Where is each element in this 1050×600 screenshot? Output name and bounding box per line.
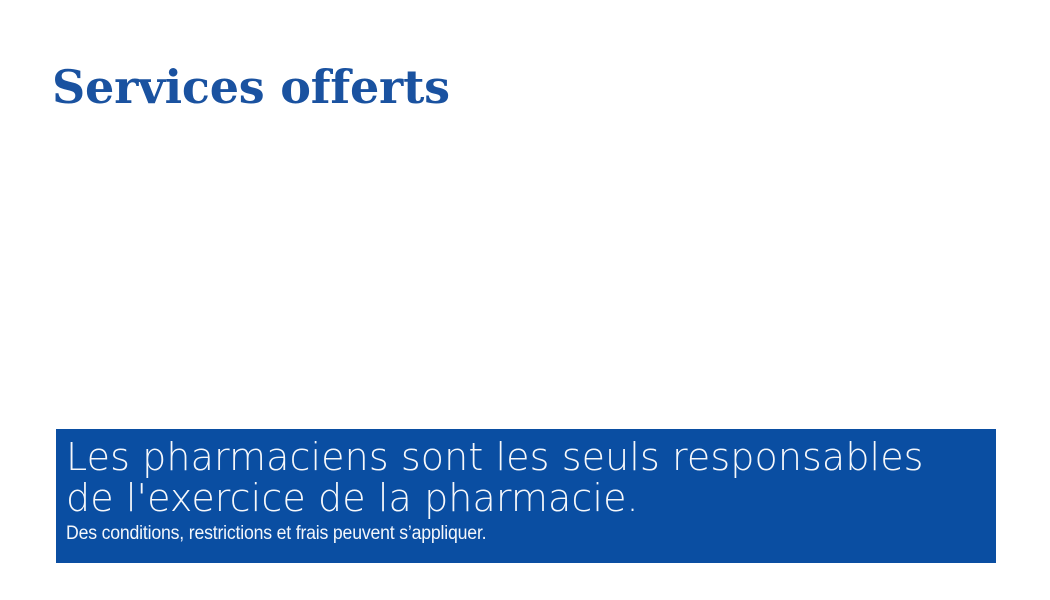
- callout-subline: Des conditions, restrictions et frais pe…: [66, 523, 931, 545]
- callout-banner: Les pharmaciens sont les seuls responsab…: [56, 429, 996, 563]
- slide-canvas: Services offerts Les pharmaciens sont le…: [0, 0, 1050, 600]
- callout-headline-line-1: Les pharmaciens sont les seuls responsab…: [66, 437, 996, 478]
- slide-content-area: [56, 130, 996, 420]
- callout-headline-line-2: de l'exercice de la pharmacie.: [66, 478, 996, 519]
- page-title: Services offerts: [52, 60, 450, 114]
